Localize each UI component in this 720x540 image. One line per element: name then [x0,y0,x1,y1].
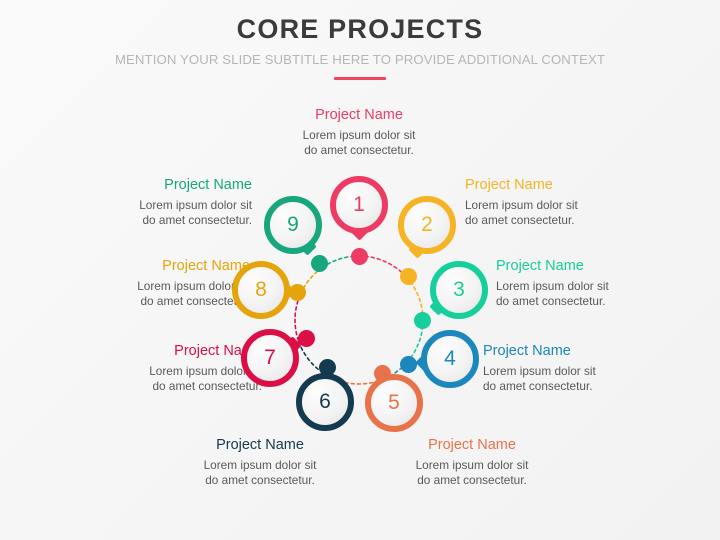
project-name-2: Project Name [465,176,635,195]
node-circle-2[interactable]: 2 [398,196,456,254]
ring-dot-3[interactable] [414,312,431,329]
project-label-2: Project NameLorem ipsum dolor sitdo amet… [465,176,635,228]
node-circle-8[interactable]: 8 [232,261,290,319]
project-description-line2-9: do amet consectetur. [142,213,252,227]
project-description-8: Lorem ipsum dolor sitdo amet consectetur… [80,279,250,309]
project-name-7: Project Name [92,342,262,361]
project-description-6: Lorem ipsum dolor sitdo amet consectetur… [175,458,345,488]
ring-dot-9[interactable] [311,255,328,272]
node-number-5: 5 [388,391,400,415]
project-description-9: Lorem ipsum dolor sitdo amet consectetur… [82,198,252,228]
node-number-4: 4 [444,347,456,371]
project-description-line2-1: do amet consectetur. [304,143,414,157]
project-label-6: Project NameLorem ipsum dolor sitdo amet… [175,436,345,488]
node-number-8: 8 [255,278,267,302]
project-description-line1-5: Lorem ipsum dolor sit [416,458,529,472]
node-circle-4[interactable]: 4 [421,330,479,388]
project-description-line2-4: do amet consectetur. [483,379,593,393]
node-number-2: 2 [421,213,433,237]
node-circle-7[interactable]: 7 [241,329,299,387]
project-name-9: Project Name [82,176,252,195]
project-description-3: Lorem ipsum dolor sitdo amet consectetur… [496,279,666,309]
project-description-line1-3: Lorem ipsum dolor sit [496,279,609,293]
node-number-1: 1 [353,193,365,217]
ring-dot-2[interactable] [400,268,417,285]
node-circle-1[interactable]: 1 [330,176,388,234]
project-name-8: Project Name [80,257,250,276]
project-name-1: Project Name [274,106,444,125]
node-number-9: 9 [287,213,299,237]
project-name-6: Project Name [175,436,345,455]
project-description-line2-7: do amet consectetur. [152,379,262,393]
project-label-5: Project NameLorem ipsum dolor sitdo amet… [387,436,557,488]
node-circle-5[interactable]: 5 [365,374,423,432]
project-description-4: Lorem ipsum dolor sitdo amet consectetur… [483,364,653,394]
node-number-3: 3 [453,278,465,302]
project-description-line2-5: do amet consectetur. [417,473,527,487]
node-circle-6[interactable]: 6 [296,373,354,431]
ring-dot-5[interactable] [374,365,391,382]
ring-dot-6[interactable] [319,359,336,376]
project-description-line1-2: Lorem ipsum dolor sit [465,198,578,212]
ring-dot-4[interactable] [400,356,417,373]
project-name-3: Project Name [496,257,666,276]
project-description-1: Lorem ipsum dolor sitdo amet consectetur… [274,128,444,158]
ring-dot-1[interactable] [351,248,368,265]
project-name-5: Project Name [387,436,557,455]
ring-dot-7[interactable] [298,330,315,347]
project-label-1: Project NameLorem ipsum dolor sitdo amet… [274,106,444,158]
project-description-line1-9: Lorem ipsum dolor sit [139,198,252,212]
project-label-3: Project NameLorem ipsum dolor sitdo amet… [496,257,666,309]
project-description-5: Lorem ipsum dolor sitdo amet consectetur… [387,458,557,488]
project-description-7: Lorem ipsum dolor sitdo amet consectetur… [92,364,262,394]
project-label-9: Project NameLorem ipsum dolor sitdo amet… [82,176,252,228]
project-name-4: Project Name [483,342,653,361]
project-description-2: Lorem ipsum dolor sitdo amet consectetur… [465,198,635,228]
node-circle-9[interactable]: 9 [264,196,322,254]
core-projects-wheel-diagram: 123456789Project NameLorem ipsum dolor s… [0,0,720,540]
node-circle-3[interactable]: 3 [430,261,488,319]
project-description-line2-6: do amet consectetur. [205,473,315,487]
project-label-7: Project NameLorem ipsum dolor sitdo amet… [92,342,262,394]
ring-dot-8[interactable] [289,284,306,301]
project-label-8: Project NameLorem ipsum dolor sitdo amet… [80,257,250,309]
node-number-7: 7 [264,346,276,370]
node-number-6: 6 [319,390,331,414]
project-label-4: Project NameLorem ipsum dolor sitdo amet… [483,342,653,394]
project-description-line1-1: Lorem ipsum dolor sit [303,128,416,142]
project-description-line1-4: Lorem ipsum dolor sit [483,364,596,378]
project-description-line1-6: Lorem ipsum dolor sit [204,458,317,472]
slide-canvas: CORE PROJECTS MENTION YOUR SLIDE SUBTITL… [0,0,720,540]
project-description-line2-3: do amet consectetur. [496,294,606,308]
project-description-line2-2: do amet consectetur. [465,213,575,227]
